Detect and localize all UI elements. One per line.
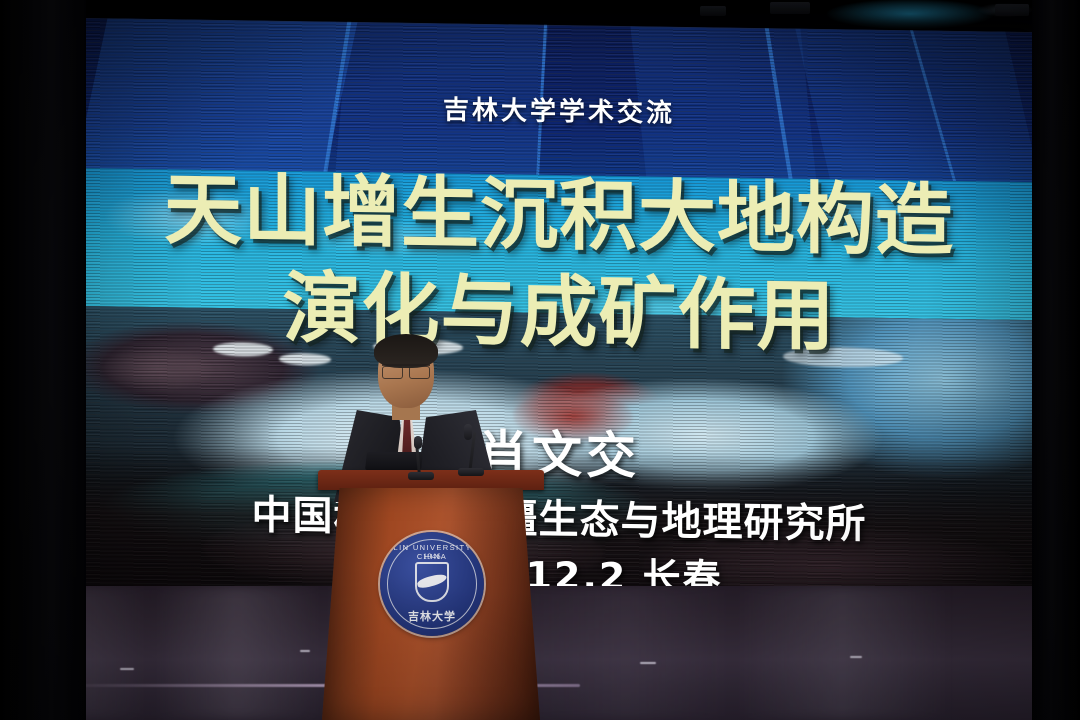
floor-highlight	[300, 650, 310, 652]
stage-curtain-left	[0, 0, 86, 720]
floor-highlight	[640, 662, 656, 664]
mic-base	[458, 468, 484, 476]
mic-base	[408, 472, 434, 480]
emblem-chinese-name: 吉林大学	[380, 608, 484, 624]
ceiling-light-fixture	[995, 4, 1029, 16]
slide-text-layer: 吉林大学学术交流 天山增生沉积大地构造 演化与成矿作用 肖文交 中国科学院新疆生…	[83, 18, 1035, 607]
university-emblem: JILIN UNIVERSITY · CHINA 1946 吉林大学	[380, 532, 484, 636]
hair	[374, 334, 438, 368]
mic-capsule	[414, 436, 422, 449]
floor-highlight	[120, 668, 134, 670]
ceiling-light-fixture	[700, 6, 726, 16]
microphone-left	[404, 436, 434, 478]
lectern: JILIN UNIVERSITY · CHINA 1946 吉林大学	[322, 470, 540, 720]
floor-reflection	[0, 586, 1080, 720]
mic-capsule	[464, 424, 472, 440]
eyeglasses-icon	[382, 364, 430, 375]
microphone-right	[452, 424, 482, 474]
led-screen: 吉林大学学术交流 天山增生沉积大地构造 演化与成矿作用 肖文交 中国科学院新疆生…	[83, 18, 1035, 607]
stage-curtain-right	[1032, 0, 1080, 720]
emblem-founding-year: 1946	[380, 552, 484, 561]
slide-content: 吉林大学学术交流 天山增生沉积大地构造 演化与成矿作用 肖文交 中国科学院新疆生…	[83, 18, 1035, 607]
stage-photograph: 吉林大学学术交流 天山增生沉积大地构造 演化与成矿作用 肖文交 中国科学院新疆生…	[0, 0, 1080, 720]
ceiling-light-fixture	[770, 2, 810, 14]
stage-floor	[0, 586, 1080, 720]
floor-highlight	[850, 656, 862, 658]
slide-title-line-2: 演化与成矿作用	[83, 243, 1035, 369]
slide-eyebrow-text: 吉林大学学术交流	[83, 84, 1035, 135]
